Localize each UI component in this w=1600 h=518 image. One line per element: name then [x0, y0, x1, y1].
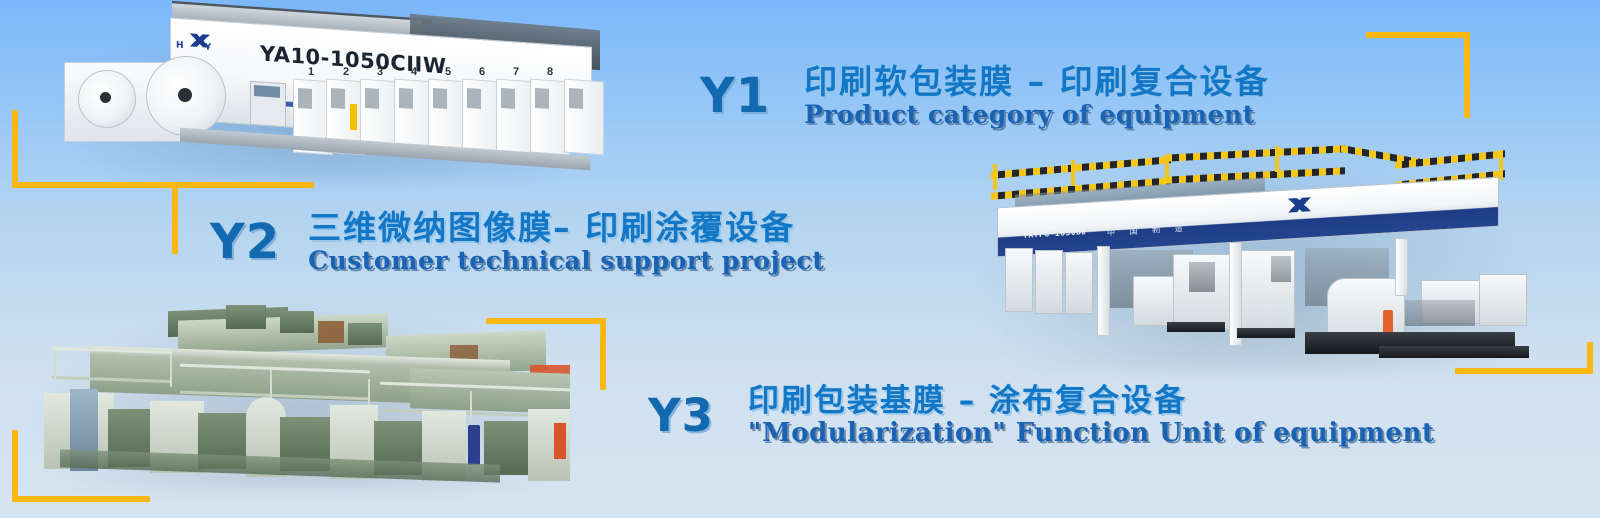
machine-photo-laminating-line: YATFG-1650BⅡ 中 国 制 造 — [975, 150, 1535, 365]
entry-y3-subtitle-en: "Modularization" Function Unit of equipm… — [748, 418, 1434, 449]
press3-motor — [318, 321, 344, 343]
bracket-top-right-middle — [486, 318, 606, 390]
press1-print-unit — [564, 79, 604, 156]
press2-support-leg — [1097, 246, 1110, 336]
press1-unit-number: 1 — [308, 66, 314, 78]
press2-unit — [1035, 250, 1063, 314]
press3-red-unit — [554, 423, 566, 459]
entry-y1: Y1 印刷软包装膜 – 印刷复合设备 Product category of e… — [700, 62, 1270, 130]
press2-floor-base — [1237, 328, 1295, 338]
press1-unit-number: 2 — [343, 66, 349, 78]
press1-yellow-marker — [350, 104, 357, 130]
entry-y3: Y3 印刷包装基膜 – 涂布复合设备 "Modularization" Func… — [648, 382, 1434, 449]
press3-fan-box — [226, 305, 266, 329]
press2-railing-post — [1071, 160, 1075, 186]
entry-y2: Y2 三维微纳图像膜– 印刷涂覆设备 Customer technical su… — [210, 208, 824, 276]
banner-root: H Y YA10-1050CIIW 1 2 3 4 5 6 7 8 — [0, 0, 1600, 518]
bracket-bottom-left-top — [12, 110, 182, 188]
press2-support-leg — [1395, 238, 1408, 296]
entry-y3-code: Y3 — [648, 389, 714, 442]
press3-railing-post — [270, 369, 272, 401]
press1-reel-hub — [178, 88, 192, 102]
press2-railing-post — [1499, 150, 1503, 180]
press2-railing-post — [993, 164, 997, 190]
press3-fan-box — [348, 323, 382, 345]
press2-unit — [1065, 252, 1093, 314]
entry-y1-subtitle-en: Product category of equipment — [804, 100, 1269, 130]
entry-y1-title-cn: 印刷软包装膜 – 印刷复合设备 — [804, 62, 1269, 102]
entry-y3-title-cn: 印刷包装基膜 – 涂布复合设备 — [748, 382, 1434, 420]
press3-railing-post — [470, 391, 472, 423]
press3-railing-post — [170, 355, 172, 387]
press3-catwalk-railing — [52, 347, 172, 383]
press1-unit-number: 7 — [513, 66, 519, 78]
press2-floor-base — [1167, 322, 1225, 332]
press3-railing-post — [54, 349, 56, 381]
press2-brand-logo-icon — [1275, 197, 1321, 214]
press2-panel — [1189, 262, 1215, 292]
press2-railing-post — [1275, 146, 1279, 172]
press1-unit-number: 8 — [547, 66, 553, 78]
press2-unit — [1005, 248, 1033, 312]
press2-shaft — [1405, 300, 1475, 326]
entry-y2-code: Y2 — [210, 214, 280, 270]
press1-unit-number: 5 — [445, 66, 451, 78]
entry-y1-code: Y1 — [700, 68, 770, 124]
press1-unit-number: 6 — [479, 66, 485, 78]
bracket-top-right-top — [1366, 32, 1470, 118]
entry-y2-subtitle-en: Customer technical support project — [308, 246, 824, 276]
press1-reel-hub — [100, 92, 111, 103]
press3-fan-box — [280, 311, 314, 333]
press1-unit-number: 4 — [411, 66, 417, 78]
press2-panel — [1271, 256, 1291, 282]
press2-end-unit — [1479, 274, 1527, 326]
bracket-bottom-left-bottom — [12, 430, 150, 502]
press2-unit — [1133, 276, 1175, 326]
press3-operator-figure — [468, 425, 480, 465]
press1-unit-number: 3 — [377, 66, 383, 78]
bracket-bottom-right — [1455, 342, 1593, 374]
entry-y2-title-cn: 三维微纳图像膜– 印刷涂覆设备 — [308, 208, 824, 248]
press1-control-panel — [250, 81, 286, 128]
